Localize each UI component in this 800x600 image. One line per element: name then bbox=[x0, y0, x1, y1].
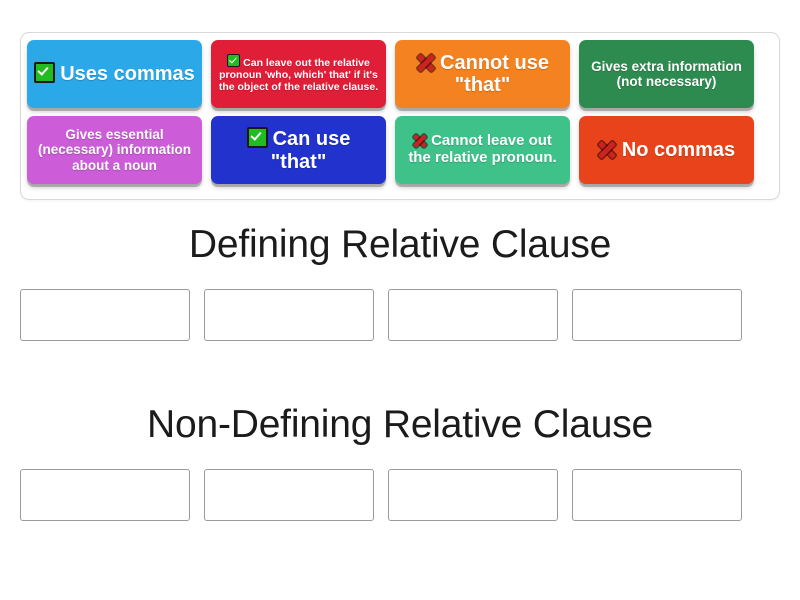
dropzone[interactable] bbox=[572, 289, 742, 341]
tile-label: Can use "that" bbox=[217, 127, 380, 173]
cross-icon bbox=[413, 134, 427, 148]
category-non-defining: Non-Defining Relative Clause bbox=[20, 404, 780, 521]
check-icon bbox=[247, 127, 268, 148]
tile-label: Gives extra information (not necessary) bbox=[585, 59, 748, 89]
cross-icon bbox=[416, 54, 435, 73]
check-icon bbox=[34, 62, 55, 83]
tile-label: Cannot use "that" bbox=[401, 52, 564, 97]
draggable-tile-cannot-leave-out-pronoun[interactable]: Cannot leave out the relative pronoun. bbox=[395, 116, 570, 184]
draggable-tile-can-use-that[interactable]: Can use "that" bbox=[211, 116, 386, 184]
tile-row-2: Gives essential (necessary) information … bbox=[27, 116, 773, 184]
category-title: Non-Defining Relative Clause bbox=[20, 404, 780, 447]
dropzone[interactable] bbox=[204, 289, 374, 341]
tile-tray: Uses commas Can leave out the relative p… bbox=[20, 32, 780, 200]
tile-row-1: Uses commas Can leave out the relative p… bbox=[27, 40, 773, 108]
draggable-tile-gives-extra-information[interactable]: Gives extra information (not necessary) bbox=[579, 40, 754, 108]
tile-label: Gives essential (necessary) information … bbox=[33, 127, 196, 172]
dropzone-row bbox=[20, 289, 780, 341]
dropzone[interactable] bbox=[388, 469, 558, 521]
category-defining: Defining Relative Clause bbox=[20, 224, 780, 341]
dropzone[interactable] bbox=[388, 289, 558, 341]
tile-label: No commas bbox=[598, 139, 735, 161]
group-sort-activity: Uses commas Can leave out the relative p… bbox=[0, 0, 800, 600]
dropzone-row bbox=[20, 469, 780, 521]
cross-icon bbox=[598, 141, 617, 160]
tile-label: Uses commas bbox=[34, 62, 195, 85]
dropzone[interactable] bbox=[204, 469, 374, 521]
dropzone[interactable] bbox=[20, 289, 190, 341]
tile-label: Cannot leave out the relative pronoun. bbox=[401, 133, 564, 167]
category-title: Defining Relative Clause bbox=[20, 224, 780, 267]
dropzone[interactable] bbox=[20, 469, 190, 521]
draggable-tile-no-commas[interactable]: No commas bbox=[579, 116, 754, 184]
dropzone[interactable] bbox=[572, 469, 742, 521]
draggable-tile-can-leave-out-pronoun[interactable]: Can leave out the relative pronoun 'who,… bbox=[211, 40, 386, 108]
tile-label: Can leave out the relative pronoun 'who,… bbox=[217, 54, 380, 93]
draggable-tile-gives-essential-information[interactable]: Gives essential (necessary) information … bbox=[27, 116, 202, 184]
check-icon bbox=[227, 54, 240, 67]
draggable-tile-cannot-use-that[interactable]: Cannot use "that" bbox=[395, 40, 570, 108]
draggable-tile-uses-commas[interactable]: Uses commas bbox=[27, 40, 202, 108]
